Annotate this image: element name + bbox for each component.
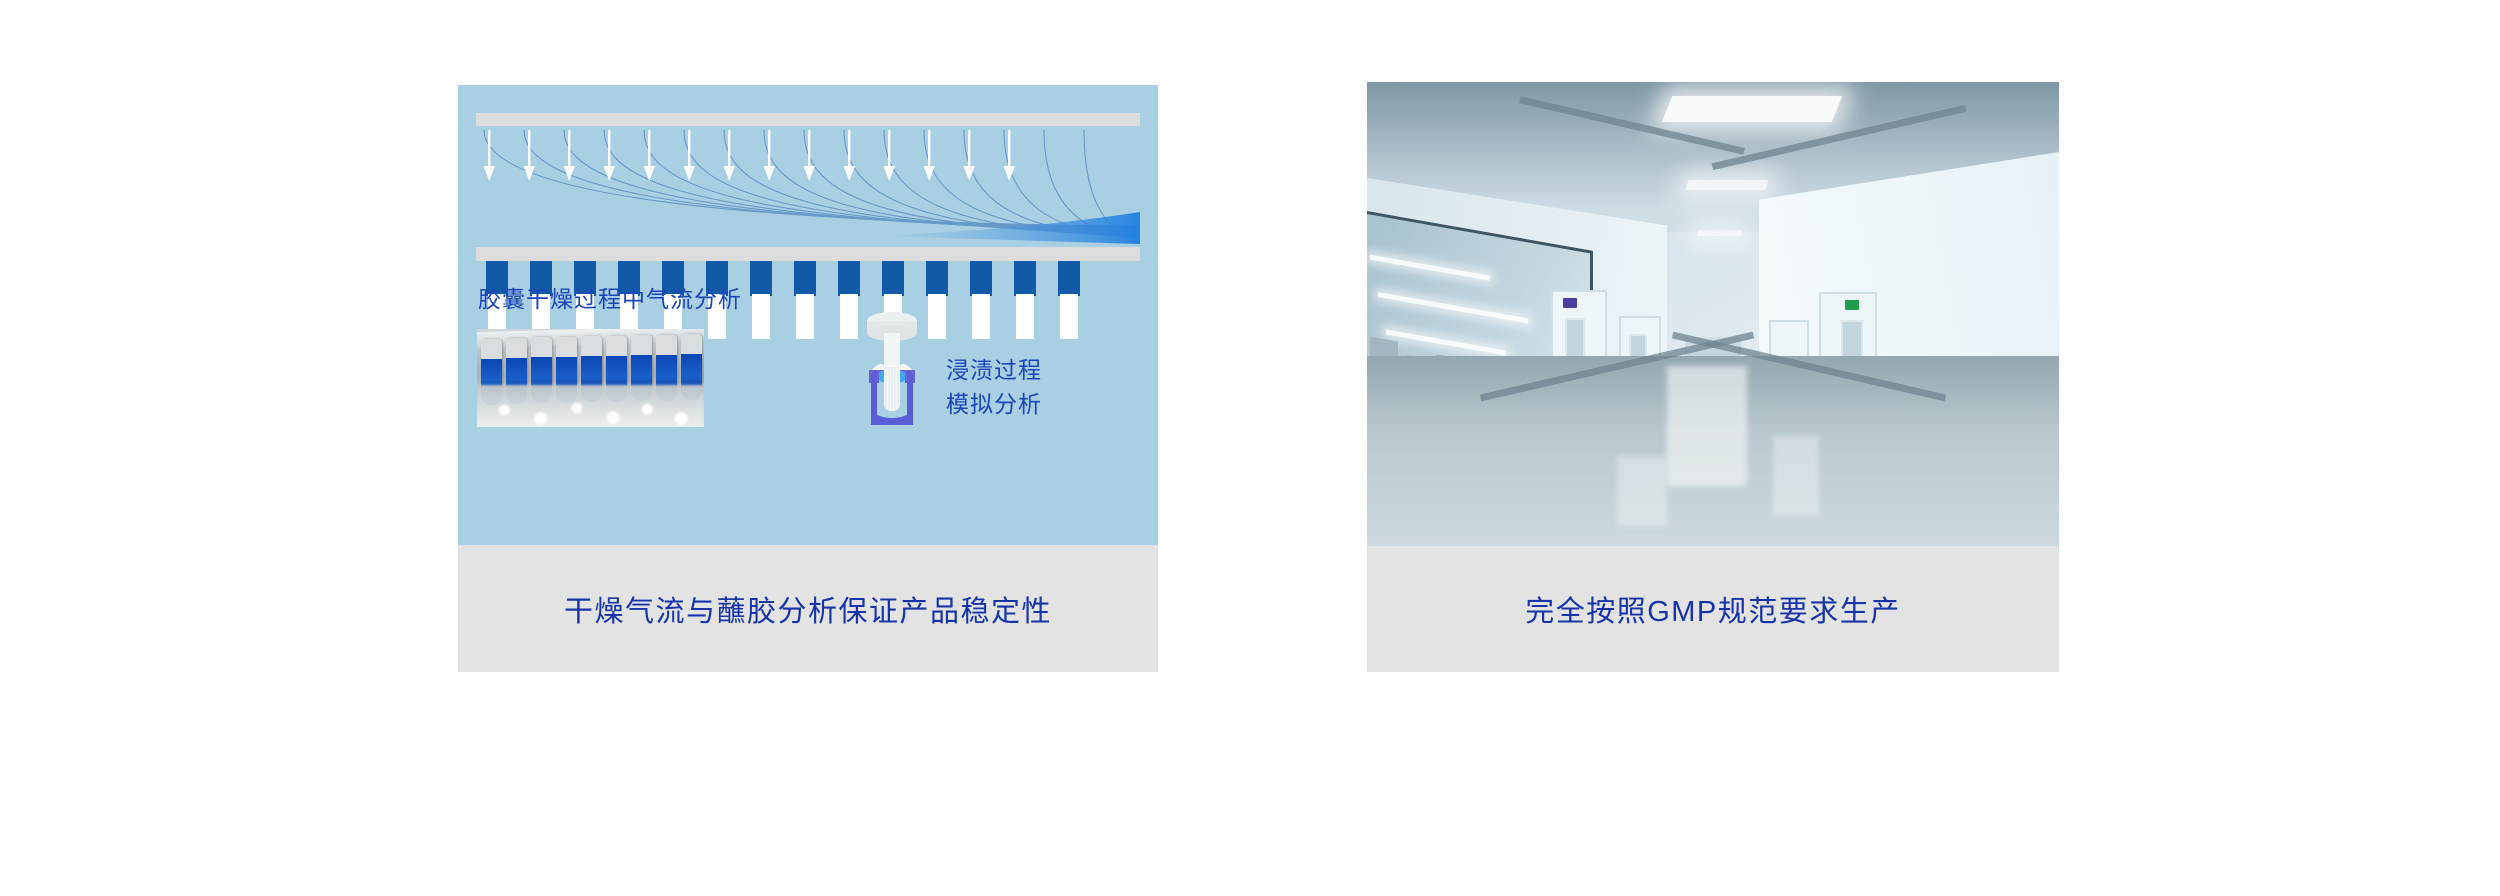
floor-reflection bbox=[1667, 366, 1747, 486]
dip-label-line2: 模拟分析 bbox=[946, 387, 1042, 421]
exit-sign-icon bbox=[1845, 300, 1859, 310]
capsule-photo-inset bbox=[477, 329, 704, 427]
card-airflow[interactable]: 胶囊干燥过程中气流分析 bbox=[458, 85, 1158, 672]
airflow-illustration-panel: 胶囊干燥过程中气流分析 bbox=[458, 85, 1158, 545]
airflow-analysis-label: 胶囊干燥过程中气流分析 bbox=[478, 280, 742, 314]
airflow-card-caption-bar: 干燥气流与蘸胶分析保证产品稳定性 bbox=[458, 545, 1158, 672]
dip-label-line1: 浸渍过程 bbox=[946, 353, 1042, 387]
dryer-top-plate bbox=[476, 113, 1140, 126]
photo-background-blur bbox=[477, 385, 704, 427]
floor-reflection bbox=[1617, 456, 1667, 526]
dryer-bottom-plate bbox=[476, 247, 1140, 261]
ceiling-lamp-icon bbox=[1696, 230, 1741, 236]
ceiling-lamp-icon bbox=[1662, 96, 1843, 122]
page-canvas: 胶囊干燥过程中气流分析 bbox=[0, 0, 2500, 896]
airflow-card-caption-text: 干燥气流与蘸胶分析保证产品稳定性 bbox=[564, 588, 1052, 630]
gmp-card-caption-bar: 完全按照GMP规范要求生产 bbox=[1367, 546, 2059, 672]
gmp-card-caption-text: 完全按照GMP规范要求生产 bbox=[1525, 588, 1901, 630]
floor-reflection bbox=[1773, 436, 1819, 516]
ceiling-lamp-icon bbox=[1686, 180, 1769, 190]
card-gmp[interactable]: 完全按照GMP规范要求生产 bbox=[1367, 82, 2059, 672]
gmp-cleanroom-photo bbox=[1367, 82, 2059, 546]
dip-simulation-label: 浸渍过程 模拟分析 bbox=[946, 353, 1042, 421]
airflow-diagram bbox=[476, 113, 1140, 261]
dip-mold-graphic bbox=[853, 309, 931, 435]
corridor-scene bbox=[1367, 82, 2059, 546]
capsule-pin-row bbox=[486, 157, 1110, 248]
door-sign-icon bbox=[1563, 298, 1577, 308]
